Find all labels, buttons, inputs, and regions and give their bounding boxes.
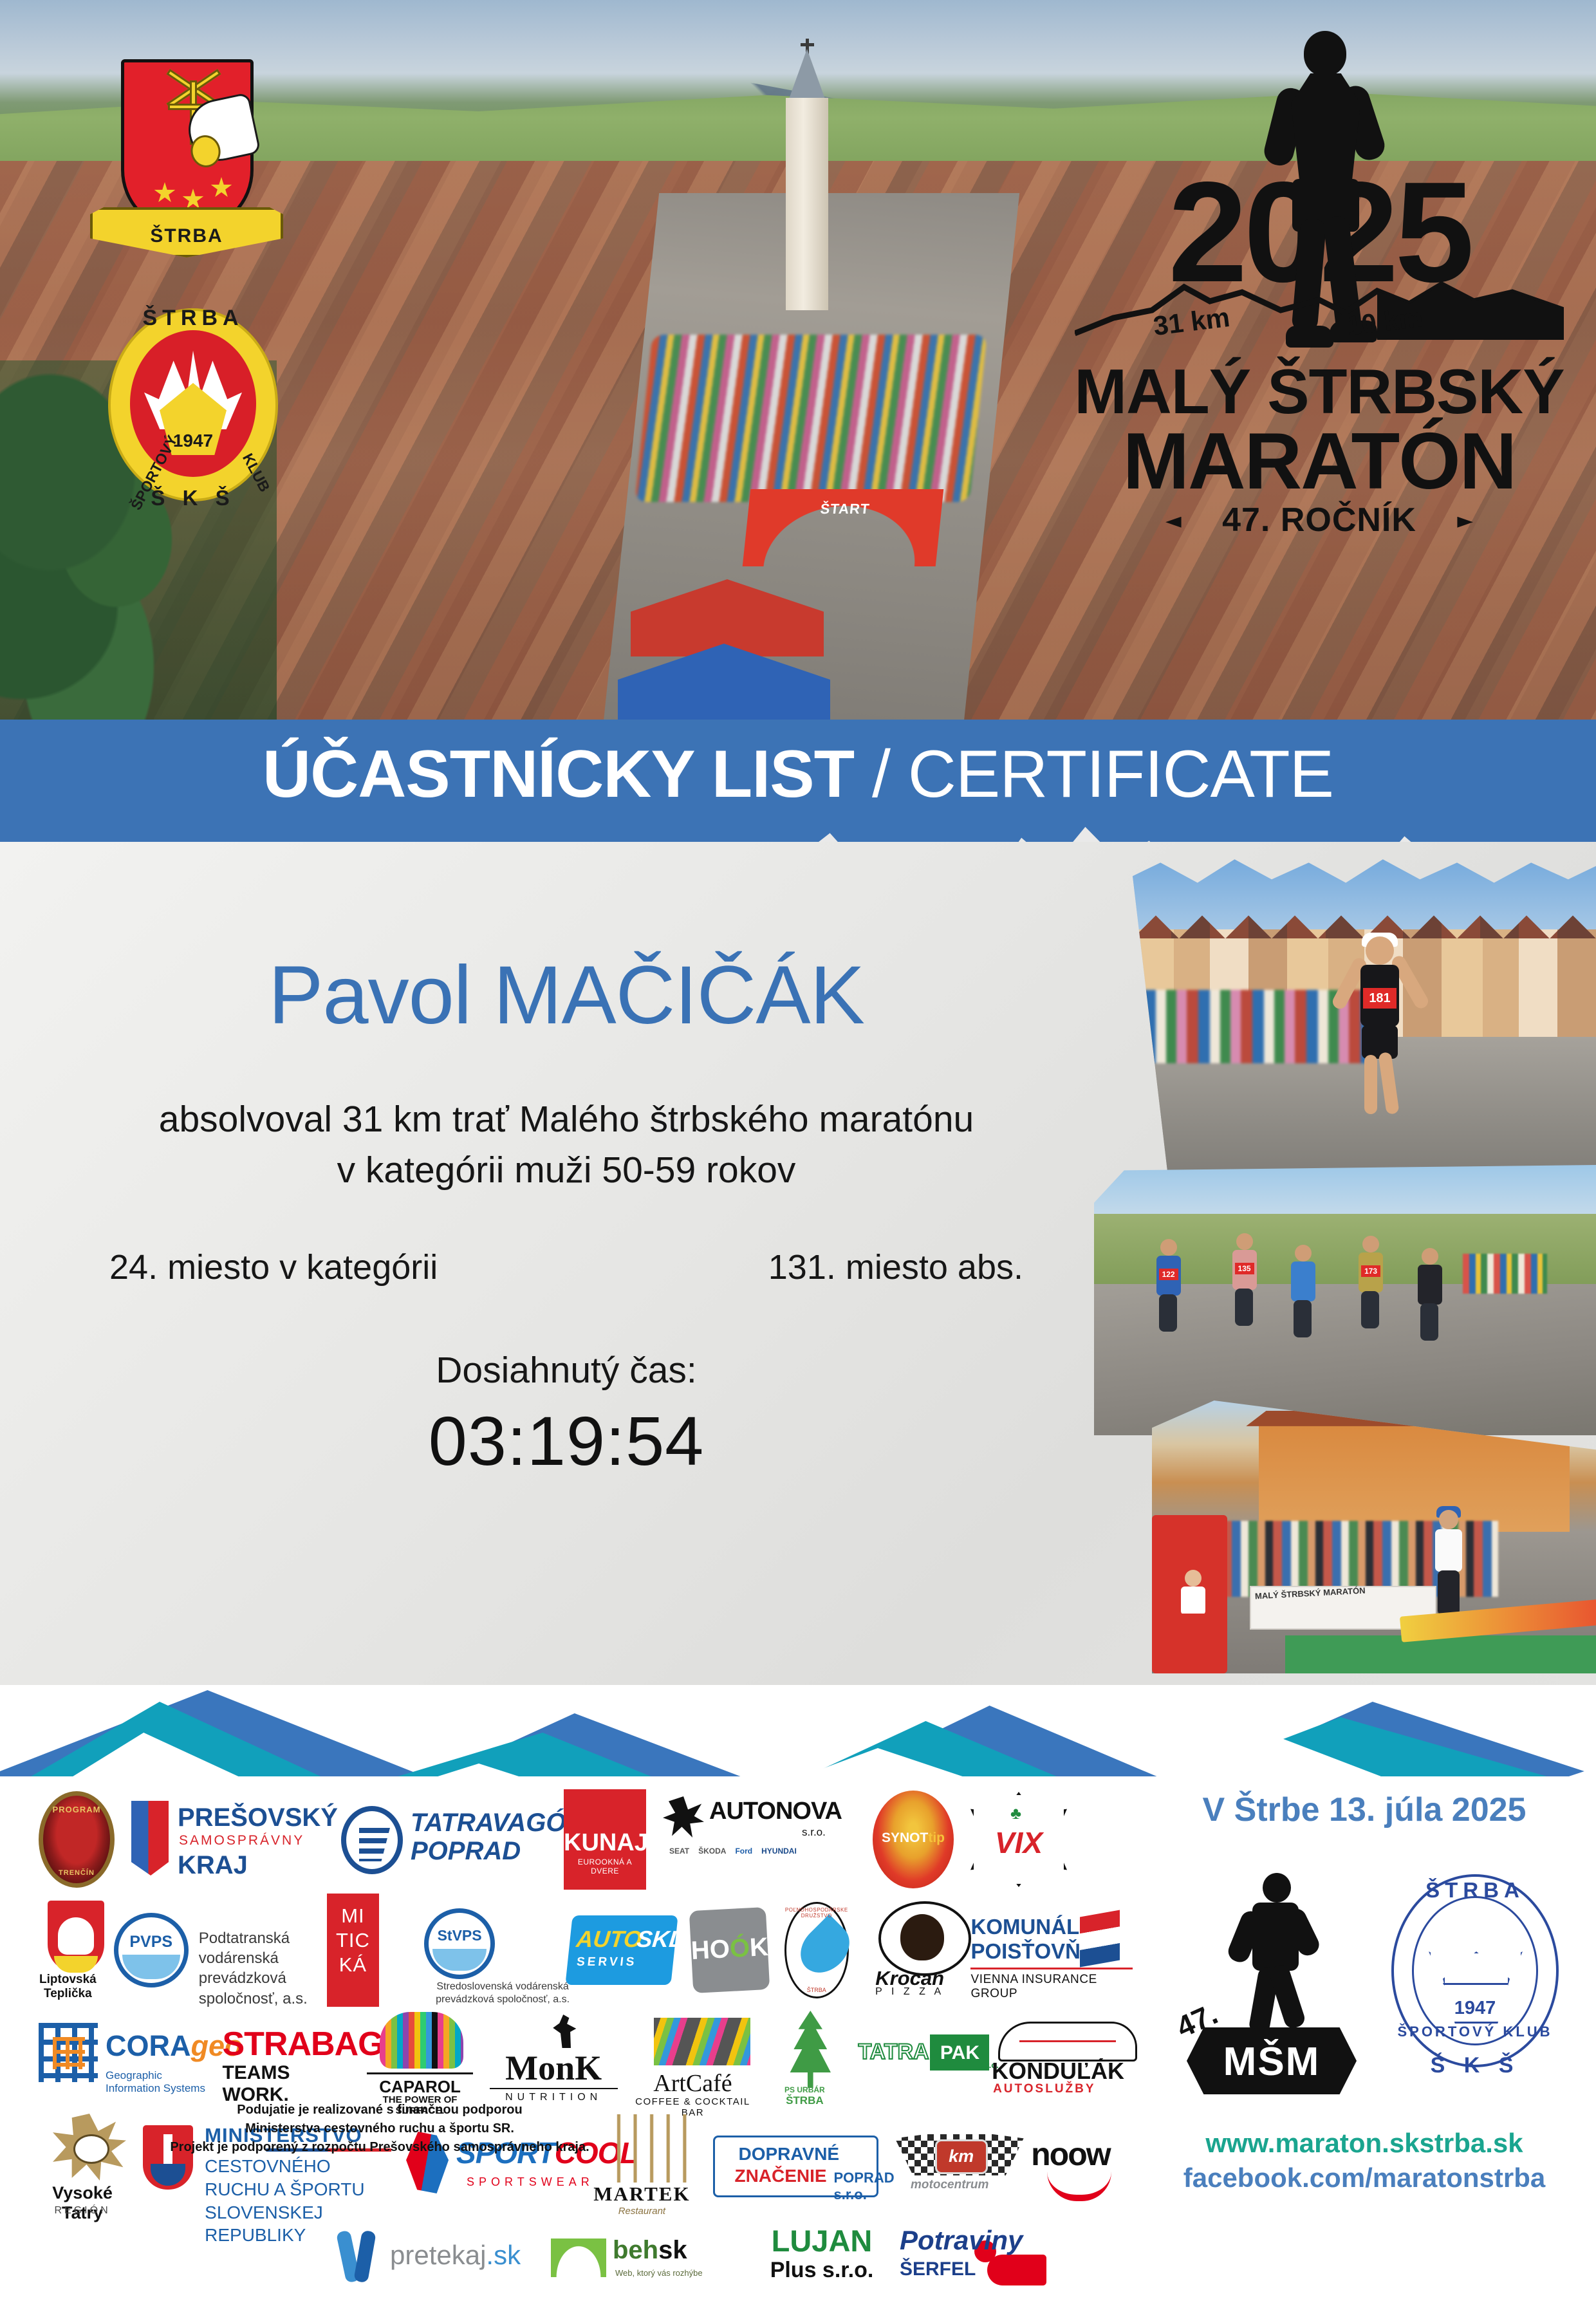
bib-number: 173	[1361, 1265, 1380, 1277]
photo-finish-line: MALÝ ŠTRBSKÝ MARATÓN	[1152, 1401, 1596, 1673]
kom-l2: POISŤOVŇA	[970, 1939, 1095, 1964]
program-bottom: TRENČÍN	[43, 1869, 110, 1877]
participant-name: Pavol MAČIČÁK	[39, 953, 1094, 1039]
church-spire	[787, 49, 827, 104]
mit-l3: KÁ	[339, 1953, 367, 1976]
page-title-sk: ÚČASTNÍCKY LIST	[263, 737, 854, 812]
brand-skoda: ŠKODA	[698, 1847, 726, 1856]
elephant-icon	[380, 2012, 463, 2069]
sponsor-monk-nutrition[interactable]: MonK NUTRITION	[490, 2015, 618, 2106]
beh-arc-icon	[551, 2238, 606, 2277]
sponsor-autosklo-servis[interactable]: AUTO SKLO SERVIS	[565, 1915, 678, 1985]
sponsor-kondulak[interactable]: KONDUĽÁK AUTOSLUŽBY	[992, 2022, 1120, 2099]
stvps-d1: Stredoslovenská vodárenská	[436, 1981, 568, 1992]
sponsor-row: CORAgeo Geographic Information Systems S…	[39, 2011, 1120, 2110]
beh-b: sk	[658, 2236, 687, 2264]
kondulak-sub: AUTOSLUŽBY	[993, 2082, 1095, 2096]
martek-sub: Restaurant	[587, 2206, 696, 2217]
beh-a: beh	[613, 2236, 658, 2264]
stvps-abbr: StVPS	[429, 1927, 490, 1944]
beh-sub: Web, ktorý vás rozhýbe	[615, 2268, 703, 2278]
kom-rule	[970, 1968, 1133, 1969]
photo-collage: 181 122 135 173 MALÝ ŠTRBSKÝ MARATÓN	[1094, 856, 1596, 1673]
page-title-separator: /	[854, 737, 908, 812]
sponsor-section: PROGRAM TRENČÍN PREŠOVSKÝ SAMOSPRÁVNY KR…	[0, 1776, 1596, 2258]
hero-crowd	[635, 335, 987, 502]
dz-l1: DOPRAVNÉ	[738, 2144, 839, 2164]
kunaj-tagline: EUROOKNÁ A DVERE	[564, 1857, 646, 1875]
description-line1: absolvoval 31 km trať Malého štrbského m…	[159, 1099, 974, 1140]
smile-icon	[1047, 2172, 1111, 2201]
ps-l1: PS URBÁR	[768, 2085, 841, 2094]
finishing-runner	[1427, 1510, 1469, 1626]
mountain-ridge-icon	[1075, 273, 1564, 342]
tatravagonka-mark-icon	[341, 1806, 403, 1874]
pret-a: pretekaj	[390, 2240, 486, 2270]
sks2-bottom-label: Š K Š	[1391, 2053, 1559, 2078]
runner-icon	[1234, 1873, 1312, 2034]
sponsor-liptovska-teplicka[interactable]: LiptovskáTeplička	[39, 1901, 97, 2000]
sks-bottom-label: Š K Š	[108, 486, 278, 510]
support-line1: Podujatie je realizované s finančnou pod…	[237, 2103, 522, 2117]
pret-b: .sk	[486, 2240, 521, 2270]
strabag-tagline: TEAMS WORK.	[222, 2062, 350, 2106]
race-banner-text: MALÝ ŠTRBSKÝ MARATÓN	[1255, 1587, 1366, 1602]
pvps-abbr: PVPS	[118, 1933, 184, 1951]
race-edition: 47. ROČNÍK	[1055, 501, 1583, 539]
finish-time: 03:19:54	[39, 1401, 1094, 1481]
church-tower	[786, 98, 828, 310]
psk-line1: PREŠOVSKÝ	[178, 1803, 338, 1832]
sponsor-noow[interactable]: noow	[1021, 2132, 1120, 2201]
lt-line1: Liptovská	[39, 1973, 97, 1986]
pvps-d2: prevádzková spoločnosť, a.s.	[199, 1969, 308, 2007]
martek-name: MARTEK	[587, 2183, 696, 2206]
pd-bottom: ŠTRBA	[784, 1987, 849, 1993]
potraviny-sub: ŠERFEL	[900, 2258, 976, 2280]
sponsor-program-trencin[interactable]: PROGRAM TRENČÍN	[39, 1791, 115, 1888]
turkey-icon	[900, 1914, 944, 1960]
facebook-url[interactable]: facebook.com/maratonstrba	[1152, 2163, 1577, 2193]
pvps-d1: Podtatranská vodárenská	[199, 1930, 290, 1967]
event-date: V Štrbe 13. júla 2025	[1152, 1791, 1577, 1829]
church-building	[769, 39, 846, 309]
certificate-text-block: Pavol MAČIČÁK absolvoval 31 km trať Malé…	[39, 953, 1094, 1481]
photo-finisher: 181	[1133, 856, 1596, 1191]
stvps-d2: prevádzková spoločnosť, a.s.	[436, 1994, 570, 2005]
lt-line2: Teplička	[44, 1987, 92, 2000]
shield-ribbon-label: ŠTRBA	[93, 225, 281, 247]
cora-grid-icon	[39, 2023, 98, 2082]
program-top: PROGRAM	[43, 1805, 110, 1814]
brand-hyundai: HYUNDAI	[761, 1847, 797, 1856]
hook-b: Ó	[729, 1933, 750, 1963]
place-category: 24. miesto v kategórii	[109, 1247, 438, 1287]
spruce-tree-icon	[787, 2011, 833, 2088]
synottip-b: tip	[928, 1830, 945, 1845]
footer-right-column: V Štrbe 13. júla 2025 47. MŠM ŠTRBA 1947…	[1152, 1791, 1577, 2193]
kunaj-name: KUNAJ	[564, 1829, 646, 1857]
krocan-sub: P I Z Z A	[866, 1986, 954, 1998]
sks2-top-label: ŠTRBA	[1404, 1878, 1546, 1903]
cora-a: CORA	[106, 2029, 191, 2062]
start-arch-icon	[743, 489, 944, 566]
support-line3: Projekt je podporený z rozpočtu Prešovsk…	[170, 2140, 589, 2154]
pvps-desc: Podtatranská vodárenskáprevádzková spolo…	[199, 1928, 310, 2009]
water-wave-icon	[122, 1955, 180, 1979]
bib-number: 122	[1159, 1269, 1178, 1280]
description-line2: v kategórii muži 50-59 rokov	[337, 1149, 796, 1191]
kondulak-name: KONDUĽÁK	[992, 2058, 1124, 2085]
vix-name: VIX	[970, 1825, 1067, 1860]
car-outline-icon	[998, 2022, 1137, 2062]
sponsor-autonova[interactable]: AUTONOVA s.r.o. SEAT ŠKODA Ford HYUNDAI	[663, 1791, 856, 1888]
sponsor-presovsky-kraj[interactable]: PREŠOVSKÝ SAMOSPRÁVNY KRAJ	[131, 1797, 324, 1882]
tatrapak-a: TATRA	[858, 2040, 929, 2065]
sponsor-artcafe[interactable]: ArtCafé COFFEE & COCKTAIL BAR	[635, 2011, 752, 2109]
psk-flag-icon	[131, 1801, 169, 1875]
msm-badge-logo: 47. MŠM	[1175, 1866, 1368, 2098]
race-edition-label: 47. ROČNÍK	[1222, 501, 1416, 539]
sponsor-krocan-pizza[interactable]: Krocan P I Z Z A	[866, 1901, 954, 1999]
pd-top: POĽNOHOSPODÁRSKE DRUŽSTVO	[784, 1907, 849, 1919]
caparol-name: CAPAROL	[367, 2072, 472, 2097]
three-stars-icon	[154, 177, 232, 207]
monk-name: MonK	[490, 2048, 618, 2088]
page-title-en: CERTIFICATE	[908, 737, 1333, 812]
autonova-name: AUTONOVA	[709, 1798, 842, 1825]
kom-flag-icon	[1080, 1910, 1120, 1968]
sc-sub: SPORTSWEAR	[467, 2175, 594, 2189]
funding-support-note: Podujatie je realizované s finančnou pod…	[39, 2101, 721, 2157]
two-runners-icon	[341, 2231, 382, 2285]
noow-name: noow	[1021, 2136, 1120, 2173]
sponsor-miticka[interactable]: MITICKÁ	[327, 1894, 379, 2007]
hook-a: HO	[691, 1935, 730, 1965]
sks-top-label: ŠTRBA	[125, 306, 261, 331]
psk-line2: SAMOSPRÁVNY	[179, 1833, 304, 1848]
sponsor-row: pretekaj.sk behsk Web, ktorý vás rozhýbe…	[341, 2223, 1120, 2295]
vt-sub: REGIÓN	[39, 2205, 126, 2217]
brand-ford: Ford	[735, 1847, 752, 1856]
lamb-icon	[58, 1917, 94, 1955]
ps-l2: ŠTRBA	[768, 2094, 841, 2107]
hook-name: HOÓK	[691, 1933, 768, 1966]
msm-abbr: MŠM	[1187, 2039, 1357, 2085]
sponsor-tatravagonka[interactable]: TATRAVAGÓNKA POPRAD	[341, 1801, 547, 1878]
sponsor-lujan-plus[interactable]: LUJAN Plus s.r.o.	[761, 2223, 883, 2295]
page-title: ÚČASTNÍCKY LIST / CERTIFICATE	[0, 736, 1596, 813]
support-line2: Ministerstva cestovného ruchu a športu S…	[245, 2121, 514, 2136]
psk-line3: KRAJ	[178, 1851, 248, 1880]
vt-name: Vysoké Tatry	[39, 2183, 126, 2223]
sponsor-komunalna-poistovna[interactable]: KOMUNÁLNA POISŤOVŇA VIENNA INSURANCE GRO…	[970, 1911, 1120, 1989]
potraviny-dots-icon	[987, 2255, 1046, 2285]
folk-costume-girl	[1178, 1570, 1207, 1660]
finisher-runner: 181	[1341, 936, 1418, 1130]
place-absolute: 131. miesto abs.	[768, 1247, 1023, 1287]
clover-icon: ♣	[1010, 1803, 1021, 1823]
sponsor-pretekaj-sk[interactable]: pretekaj.sk	[341, 2228, 534, 2290]
autosklo-a: AUTO	[575, 1926, 643, 1953]
lt-label: LiptovskáTeplička	[39, 1973, 97, 2001]
sponsor-corageo[interactable]: CORAgeo Geographic Information Systems	[39, 2019, 205, 2101]
sponsor-dopravne-znacenie[interactable]: DOPRAVNÉ ZNAČENIE POPRAD s.r.o.	[713, 2136, 878, 2197]
pretekaj-name: pretekaj.sk	[390, 2240, 521, 2271]
mit-l1: MI	[341, 1904, 364, 1927]
shield-ribbon: ŠTRBA	[90, 207, 283, 257]
km-badge: km	[935, 2139, 988, 2174]
autonova-brand-row: SEAT ŠKODA Ford HYUNDAI	[669, 1847, 797, 1856]
strba-coat-of-arms: ŠTRBA	[90, 24, 283, 282]
sks-club-badge: ŠTRBA 1947 ŠPORTOVÝ KLUB Š K Š	[97, 293, 290, 525]
sponsor-grid: PROGRAM TRENČÍN PREŠOVSKÝ SAMOSPRÁVNY KR…	[39, 1789, 1120, 2299]
pvps-oval-icon: PVPS	[114, 1913, 189, 1987]
lujan-name: LUJAN	[761, 2223, 883, 2258]
time-label: Dosiahnutý čas:	[39, 1349, 1094, 1391]
placement-row: 24. miesto v kategórii 131. miesto abs.	[39, 1247, 1094, 1287]
sponsor-vix[interactable]: ♣ VIX	[970, 1792, 1067, 1887]
sponsor-pd-strba[interactable]: POĽNOHOSPODÁRSKE DRUŽSTVO ŠTRBA	[784, 1902, 849, 1998]
cora-sub: Geographic Information Systems	[106, 2069, 205, 2095]
autonova-burst-icon	[663, 1796, 704, 1838]
dz-l3: POPRAD s.r.o.	[833, 2170, 894, 2203]
sks2-year: 1947	[1442, 1998, 1508, 2019]
artcafe-name: ArtCafé	[635, 2069, 752, 2098]
potraviny-name: Potraviny	[900, 2225, 1023, 2256]
sponsor-strabag[interactable]: STRABAG TEAMS WORK.	[222, 2025, 350, 2096]
synottip-name: SYNOTtip	[873, 1830, 954, 1846]
shield-field	[121, 59, 254, 232]
brand-seat: SEAT	[669, 1847, 689, 1856]
sponsor-beh-sk[interactable]: behsk Web, ktorý vás rozhýbe	[551, 2228, 744, 2290]
certificate-description: absolvoval 31 km trať Malého štrbského m…	[39, 1094, 1094, 1195]
tvp-line2: POPRAD	[411, 1837, 521, 1866]
miticka-name: MITICKÁ	[327, 1904, 379, 1977]
arrow-right-icon	[1427, 517, 1473, 528]
race-title-line2: MARATÓN	[1055, 416, 1583, 507]
km-b: motocentrum	[895, 2178, 1005, 2192]
sponsor-caparol[interactable]: CAPAROL THE POWER OF SURFACE.	[367, 2012, 472, 2108]
sponsor-row: LiptovskáTeplička PVPS Podtatranská vodá…	[39, 1894, 1120, 2007]
arrow-left-icon	[1165, 517, 1212, 528]
synottip-a: SYNOT	[882, 1830, 928, 1845]
sponsor-synottip[interactable]: SYNOTtip	[873, 1791, 954, 1888]
strabag-name: STRABAG	[222, 2025, 383, 2063]
lujan-sub: Plus s.r.o.	[761, 2258, 883, 2283]
km-a: km	[937, 2146, 986, 2166]
sks-club-logo-footer: ŠTRBA 1947 ŠPORTOVÝ KLUB Š K Š	[1378, 1869, 1572, 2096]
footer-logos: 47. MŠM ŠTRBA 1947 ŠPORTOVÝ KLUB Š K Š	[1152, 1866, 1577, 2105]
stvps-desc: Stredoslovenská vodárenskáprevádzková sp…	[413, 1980, 593, 2006]
sponsor-ps-urbar-strba[interactable]: PS URBÁR ŠTRBA	[768, 2011, 841, 2110]
sponsor-stvps[interactable]: StVPS Stredoslovenská vodárenskáprevádzk…	[396, 1908, 552, 1992]
coffee-cup-icon	[654, 2018, 750, 2065]
msm-abbr-badge: MŠM	[1187, 2027, 1357, 2094]
sks2-mid-label: ŠPORTOVÝ KLUB	[1394, 2024, 1556, 2040]
sponsor-hook[interactable]: HOÓK	[689, 1907, 770, 1993]
website-url[interactable]: www.maraton.skstrba.sk	[1152, 2128, 1577, 2159]
sponsor-tatrapak[interactable]: TATRA PAK s.r.o.	[858, 2023, 975, 2098]
kom-l3: VIENNA INSURANCE GROUP	[970, 1973, 1120, 2001]
water-wave-icon	[432, 1949, 487, 1971]
sponsor-potraviny-serfel[interactable]: Potraviny ŠERFEL	[900, 2225, 1048, 2293]
race-bib-number: 181	[1363, 988, 1396, 1009]
sponsor-kunaj[interactable]: KUNAJ EUROOKNÁ A DVERE	[564, 1789, 646, 1890]
autonova-suffix: s.r.o.	[802, 1826, 826, 1839]
mit-l2: TIC	[336, 1929, 370, 1951]
stvps-oval-icon: StVPS	[424, 1908, 495, 1979]
bib-number: 135	[1235, 1263, 1254, 1274]
sponsor-pvps[interactable]: PVPS Podtatranská vodárenskáprevádzková …	[114, 1909, 310, 1991]
monk-figure-icon	[552, 2015, 579, 2048]
hook-c: K	[749, 1933, 769, 1962]
race-logo: 2025 31 km 10 km MALÝ ŠTRBSKÝ MARATÓN 47…	[1055, 26, 1583, 579]
dz-l2: ZNAČENIE	[734, 2166, 826, 2186]
sponsor-row: PROGRAM TRENČÍN PREŠOVSKÝ SAMOSPRÁVNY KR…	[39, 1789, 1120, 1890]
photo-runners-group: 122 135 173	[1094, 1165, 1596, 1435]
beh-name: behsk	[613, 2236, 687, 2265]
sponsor-km-motocentrum[interactable]: km motocentrum	[895, 2130, 1005, 2202]
autosklo-sub: SERVIS	[575, 1955, 637, 1969]
